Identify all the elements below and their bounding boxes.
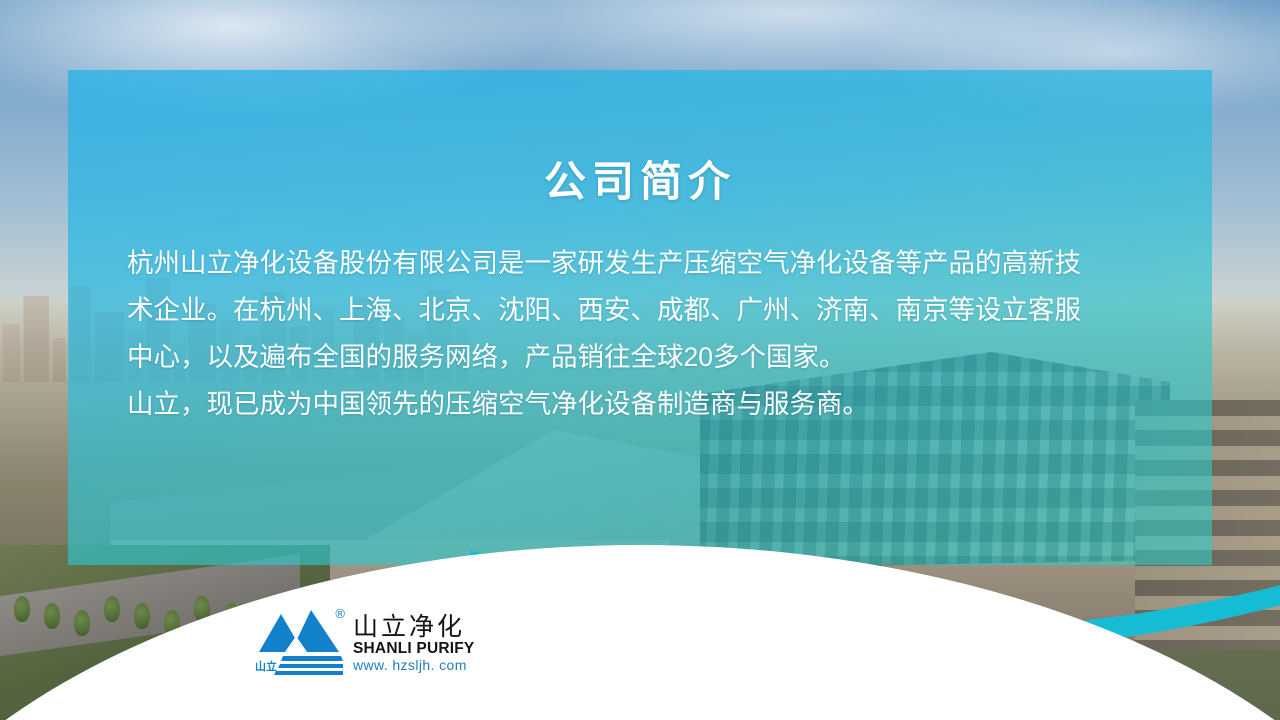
body-paragraph-line-1: 杭州山立净化设备股份有限公司是一家研发生产压缩空气净化设备等产品的高新技 <box>127 240 1161 287</box>
body-text: 杭州山立净化设备股份有限公司是一家研发生产压缩空气净化设备等产品的高新技 术企业… <box>127 240 1161 428</box>
mountain-icon-caption: 山立 <box>255 658 277 674</box>
logo-wordmark: 山立净化 SHANLI PURIFY www. hzsljh. com <box>353 613 474 676</box>
logo-name-cn: 山立净化 <box>353 613 474 640</box>
content-area: 公司简介 杭州山立净化设备股份有限公司是一家研发生产压缩空气净化设备等产品的高新… <box>68 70 1212 565</box>
page-title: 公司简介 <box>68 148 1212 209</box>
body-paragraph-line-2: 术企业。在杭州、上海、北京、沈阳、西安、成都、广州、济南、南京等设立客服 <box>127 287 1161 334</box>
logo-name-en: SHANLI PURIFY <box>353 640 474 657</box>
company-logo: 山立 ® 山立净化 SHANLI PURIFY www. hzsljh. com <box>255 606 474 676</box>
body-paragraph-line-4: 山立，现已成为中国领先的压缩空气净化设备制造商与服务商。 <box>127 381 1161 428</box>
mountain-logo-icon: 山立 ® <box>255 606 343 676</box>
slide-canvas: 公司简介 杭州山立净化设备股份有限公司是一家研发生产压缩空气净化设备等产品的高新… <box>0 0 1280 720</box>
registered-trademark-icon: ® <box>335 606 345 621</box>
logo-website-url: www. hzsljh. com <box>353 657 474 674</box>
body-paragraph-line-3: 中心，以及遍布全国的服务网络，产品销往全球20多个国家。 <box>127 334 1161 381</box>
